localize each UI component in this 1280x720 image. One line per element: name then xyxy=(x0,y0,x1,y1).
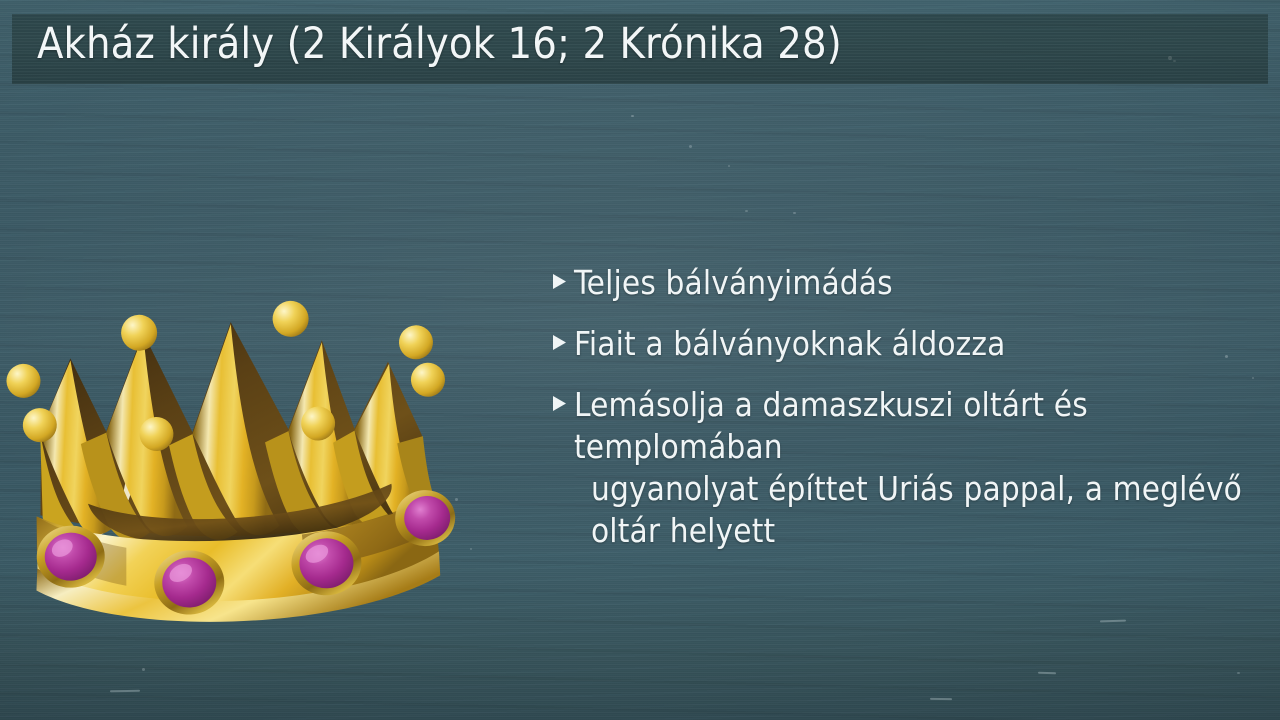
bullet-line: Fiait a bálványoknak áldozza xyxy=(574,324,1005,363)
bullet-item: Teljes bálványimádás xyxy=(552,262,1264,304)
crown-spike-ball xyxy=(410,362,446,398)
crown-spike-ball xyxy=(272,300,310,338)
bullet-item: Lemásolja a damaszkuszi oltárt és templo… xyxy=(552,384,1264,552)
bullet-text: Fiait a bálványoknak áldozza xyxy=(574,323,1264,365)
bullet-item: Fiait a bálványoknak áldozza xyxy=(552,323,1264,365)
triangle-right-icon xyxy=(552,273,571,290)
crown-spike-ball xyxy=(120,314,158,352)
slide-title: Akház király (2 Királyok 16; 2 Krónika 2… xyxy=(37,17,842,71)
crown-spike-ball xyxy=(398,324,434,360)
bullet-text: Teljes bálványimádás xyxy=(574,262,1264,304)
golden-crown-image xyxy=(0,300,470,650)
triangle-right-icon xyxy=(552,395,571,412)
crown-spike-ball xyxy=(6,363,42,399)
bullet-list: Teljes bálványimádás Fiait a bálványokna… xyxy=(552,262,1264,571)
bullet-text: Lemásolja a damaszkuszi oltárt és templo… xyxy=(574,384,1264,552)
bullet-line: Lemásolja a damaszkuszi oltárt és templo… xyxy=(574,385,1088,466)
bullet-line: Teljes bálványimádás xyxy=(574,263,893,302)
presentation-slide: Akház király (2 Királyok 16; 2 Krónika 2… xyxy=(0,0,1280,720)
bullet-line-continuation: ugyanolyat építtet Uriás pappal, a meglé… xyxy=(574,468,1264,552)
triangle-right-icon xyxy=(552,334,571,351)
